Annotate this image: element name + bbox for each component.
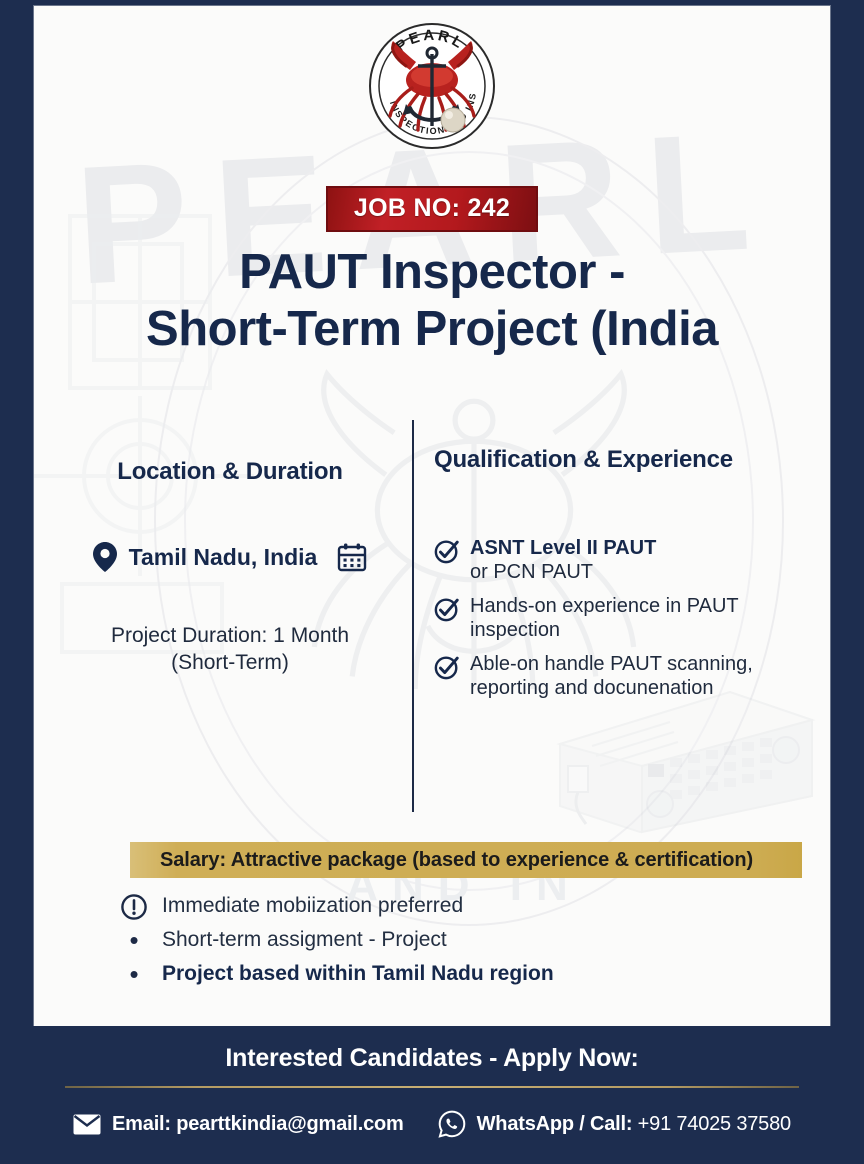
project-duration-line1: Project Duration: 1 Month: [52, 622, 408, 649]
qualification-heading: Qualification & Experience: [434, 446, 804, 474]
location-duration-heading: Location & Duration: [52, 458, 408, 486]
whatsapp-icon: [438, 1110, 466, 1138]
poster-card: PEARL AND IN: [34, 6, 830, 1026]
whatsapp-text: WhatsApp / Call: +91 74025 37580: [477, 1113, 791, 1136]
note-item: Immediate mobiization preferred: [120, 892, 800, 921]
email-label: Email:: [112, 1113, 171, 1135]
note-item-text: Project based within Tamil Nadu region: [162, 960, 554, 988]
qualification-item: ASNT Level II PAUT or PCN PAUT: [434, 536, 804, 585]
map-pin-icon: [93, 542, 117, 572]
email-address: pearttkindia@gmail.com: [176, 1113, 403, 1135]
page-title-line2: Short-Term Project (India: [62, 301, 802, 358]
dot-bullet-icon: •: [120, 926, 148, 955]
salary-banner: Salary: Attractive package (based to exp…: [130, 842, 802, 878]
job-number-badge-row: JOB NO: 242: [34, 186, 830, 232]
exclamation-circle-icon: [120, 893, 148, 921]
calendar-icon: [337, 542, 367, 572]
location-text: Tamil Nadu, India: [129, 544, 318, 571]
qualification-item-strong: ASNT Level II PAUT: [470, 537, 656, 559]
qualification-item-rest: or PCN PAUT: [470, 561, 593, 583]
envelope-icon: [73, 1114, 101, 1135]
note-item-text: Short-term assigment - Project: [162, 926, 447, 954]
location-row: Tamil Nadu, India: [52, 542, 408, 572]
whatsapp-contact[interactable]: WhatsApp / Call: +91 74025 37580: [438, 1110, 791, 1138]
dot-bullet-icon: •: [120, 960, 148, 989]
job-poster: PEARL AND IN: [0, 0, 864, 1164]
location-duration-section: Location & Duration Tamil Nadu, India: [52, 458, 408, 677]
check-circle-icon: [434, 654, 460, 680]
qualification-item: Able-on handle PAUT scanning, reporting …: [434, 652, 804, 701]
logo-container: PEARL INSPECTION AND INSTITUTION: [34, 14, 830, 164]
qualification-item: Hands-on experience in PAUT inspection: [434, 594, 804, 643]
note-item-text: Immediate mobiization preferred: [162, 892, 463, 920]
check-circle-icon: [434, 538, 460, 564]
email-text: Email: pearttkindia@gmail.com: [112, 1113, 404, 1136]
page-title-line1: PAUT Inspector -: [62, 244, 802, 301]
check-circle-icon: [434, 596, 460, 622]
job-number-badge: JOB NO: 242: [326, 186, 538, 232]
footer-contacts: Email: pearttkindia@gmail.com WhatsApp /…: [0, 1110, 864, 1138]
note-item: • Project based within Tamil Nadu region: [120, 960, 800, 989]
email-contact[interactable]: Email: pearttkindia@gmail.com: [73, 1113, 404, 1136]
qualification-item-text: ASNT Level II PAUT or PCN PAUT: [470, 536, 656, 585]
footer-title: Interested Candidates - Apply Now:: [0, 1026, 864, 1073]
phone-number: +91 74025 37580: [638, 1113, 791, 1135]
qualification-section: Qualification & Experience ASNT Level II…: [434, 446, 804, 709]
qualification-item-text: Able-on handle PAUT scanning, reporting …: [470, 652, 804, 701]
whatsapp-label: WhatsApp / Call:: [477, 1113, 633, 1135]
footer-divider: [65, 1086, 799, 1088]
project-duration: Project Duration: 1 Month (Short-Term): [52, 622, 408, 677]
page-title: PAUT Inspector - Short-Term Project (Ind…: [62, 244, 802, 358]
contact-footer: Interested Candidates - Apply Now: Email…: [0, 1026, 864, 1164]
qualification-item-text: Hands-on experience in PAUT inspection: [470, 594, 804, 643]
notes-list: Immediate mobiization preferred • Short-…: [120, 892, 800, 993]
project-duration-line2: (Short-Term): [52, 649, 408, 676]
pearl-inspection-logo-icon: PEARL INSPECTION AND INSTITUTION: [362, 14, 502, 164]
note-item: • Short-term assigment - Project: [120, 926, 800, 955]
column-divider: [412, 420, 414, 812]
